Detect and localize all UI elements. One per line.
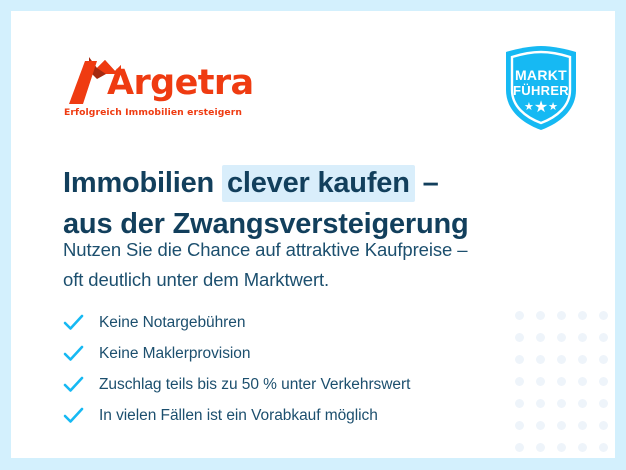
check-icon — [63, 406, 84, 425]
dot — [557, 355, 566, 364]
dot — [599, 355, 608, 364]
dot — [536, 377, 545, 386]
star-icon-center: ★ — [534, 99, 548, 116]
dot — [557, 377, 566, 386]
page-frame: Argetra Erfolgreich Immobilien ersteiger… — [0, 0, 626, 470]
dot — [536, 333, 545, 342]
list-item: Keine Notargebühren — [63, 307, 533, 338]
list-item-label: In vielen Fällen ist ein Vorabkauf mögli… — [99, 406, 378, 426]
dot — [536, 355, 545, 364]
dot — [578, 443, 587, 452]
list-item: In vielen Fällen ist ein Vorabkauf mögli… — [63, 400, 533, 431]
brand-logo: Argetra Erfolgreich Immobilien ersteiger… — [63, 55, 263, 127]
headline-highlight: clever kaufen — [222, 165, 415, 202]
dot — [599, 377, 608, 386]
page-title: Immobilien clever kaufen – aus der Zwang… — [63, 164, 583, 243]
dot — [578, 377, 587, 386]
dot — [578, 311, 587, 320]
star-icon-right: ★ — [548, 101, 558, 113]
dot — [557, 311, 566, 320]
shield-badge-icon — [500, 44, 582, 132]
dot — [557, 421, 566, 430]
dot — [536, 421, 545, 430]
dot — [578, 333, 587, 342]
list-item: Keine Maklerprovision — [63, 338, 533, 369]
dot — [578, 355, 587, 364]
dot — [599, 399, 608, 408]
headline-part-1: Immobilien — [63, 167, 222, 199]
subtitle-line-1: Nutzen Sie die Chance auf attraktive Kau… — [63, 235, 583, 265]
dot — [599, 311, 608, 320]
dot — [578, 399, 587, 408]
dot — [599, 443, 608, 452]
dot — [536, 399, 545, 408]
dot — [599, 421, 608, 430]
check-icon — [63, 344, 84, 363]
promo-card: Argetra Erfolgreich Immobilien ersteiger… — [11, 11, 615, 458]
list-item-label: Zuschlag teils bis zu 50 % unter Verkehr… — [99, 375, 410, 395]
subtitle-line-2: oft deutlich unter dem Marktwert. — [63, 265, 583, 295]
benefits-list: Keine Notargebühren Keine Maklerprovisio… — [63, 307, 533, 431]
dot — [557, 443, 566, 452]
check-icon — [63, 313, 84, 332]
brand-tagline: Erfolgreich Immobilien ersteigern — [64, 107, 242, 118]
dot — [578, 421, 587, 430]
star-icon-left: ★ — [524, 101, 534, 113]
list-item-label: Keine Maklerprovision — [99, 344, 250, 364]
brand-name: Argetra — [107, 61, 254, 105]
headline-part-2: – — [415, 167, 439, 199]
dot — [515, 443, 524, 452]
badge-stars: ★★★ — [500, 100, 582, 116]
dot — [599, 333, 608, 342]
dot — [536, 311, 545, 320]
check-icon — [63, 375, 84, 394]
dot — [557, 399, 566, 408]
market-leader-badge: MARKT FÜHRER ★★★ — [500, 44, 582, 132]
page-subtitle: Nutzen Sie die Chance auf attraktive Kau… — [63, 235, 583, 295]
list-item: Zuschlag teils bis zu 50 % unter Verkehr… — [63, 369, 533, 400]
dot — [557, 333, 566, 342]
dot — [536, 443, 545, 452]
list-item-label: Keine Notargebühren — [99, 313, 245, 333]
